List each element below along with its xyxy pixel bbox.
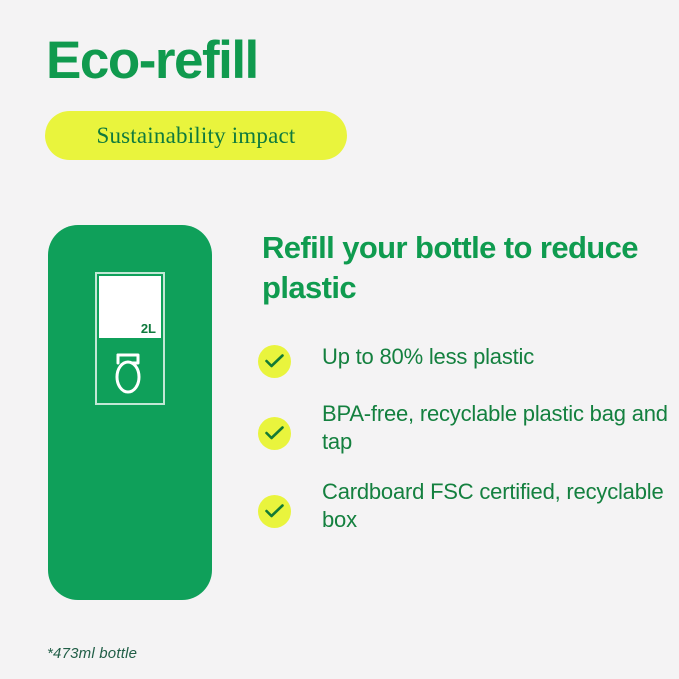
sustainability-impact-badge: Sustainability impact	[45, 111, 347, 160]
list-item: Cardboard FSC certified, recyclable box	[258, 478, 668, 534]
check-icon	[258, 417, 291, 450]
benefit-list: Up to 80% less plastic BPA-free, recycla…	[258, 343, 668, 535]
list-item: Up to 80% less plastic	[258, 343, 668, 378]
check-icon	[258, 495, 291, 528]
footnote: *473ml bottle	[47, 645, 137, 662]
list-item-label: BPA-free, recyclable plastic bag and tap	[322, 400, 668, 456]
check-icon	[258, 345, 291, 378]
list-item-label: Up to 80% less plastic	[322, 343, 534, 371]
tap-icon	[104, 347, 154, 395]
list-item: BPA-free, recyclable plastic bag and tap	[258, 400, 668, 456]
section-headline: Refill your bottle to reduce plastic	[262, 228, 657, 309]
list-item-label: Cardboard FSC certified, recyclable box	[322, 478, 668, 534]
refill-box-illustration: 2L *	[48, 225, 212, 600]
page-title: Eco-refill	[46, 34, 258, 87]
badge-label: Sustainability impact	[96, 123, 295, 149]
carton-volume-label: 2L	[99, 276, 161, 338]
eco-refill-infographic: Eco-refill Sustainability impact 2L	[0, 0, 679, 679]
carton-volume-text: 2L	[141, 322, 161, 338]
